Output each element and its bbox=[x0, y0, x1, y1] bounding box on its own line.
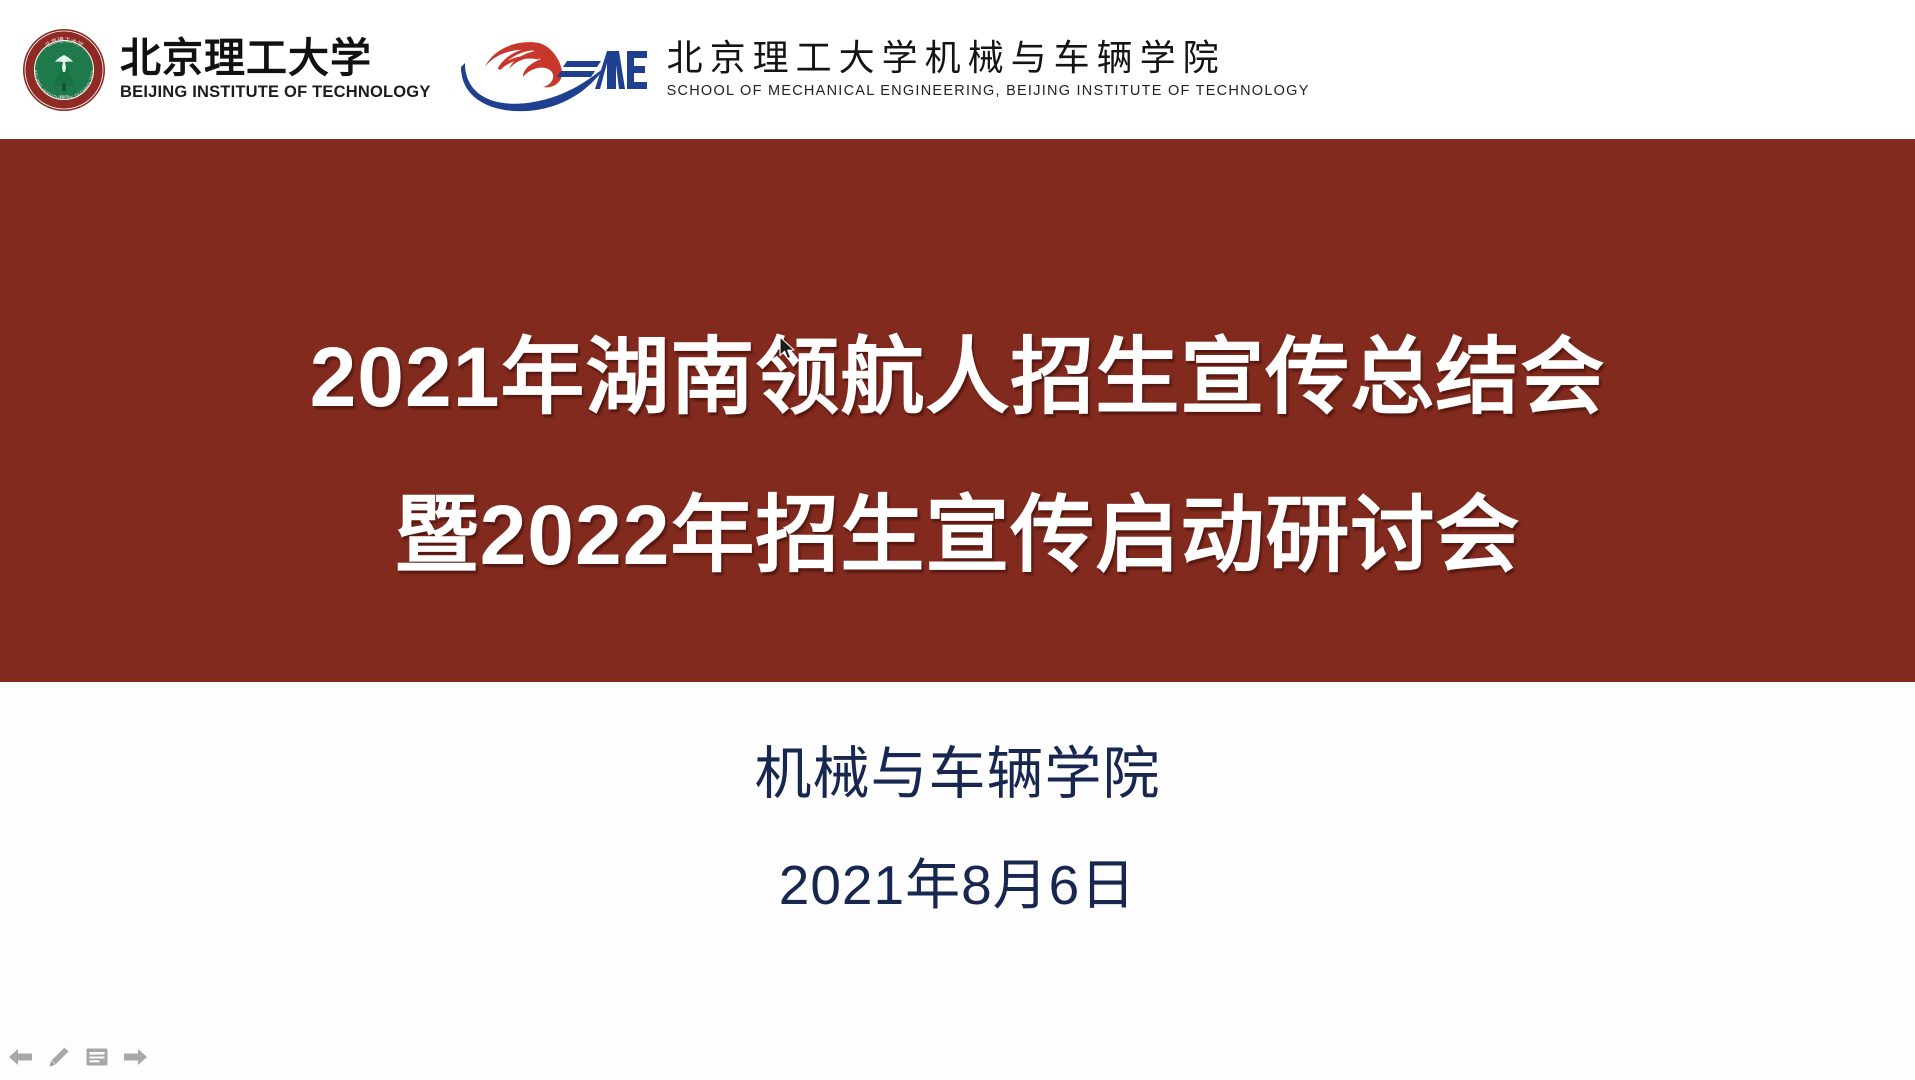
slideshow-toolbar bbox=[0, 1034, 1915, 1080]
bit-name-cn: 北京理工大学 bbox=[120, 36, 431, 80]
arrow-right-icon bbox=[122, 1046, 148, 1068]
bit-name-en: BEIJING INSTITUTE OF TECHNOLOGY bbox=[120, 83, 431, 103]
notes-panel-button[interactable] bbox=[82, 1042, 112, 1072]
notes-icon bbox=[85, 1046, 109, 1068]
pen-annotate-button[interactable] bbox=[44, 1042, 74, 1072]
slide-presenter: 机械与车辆学院 bbox=[0, 745, 1915, 805]
slide-title-line-1: 2021年湖南领航人招生宣传总结会 bbox=[0, 335, 1915, 419]
previous-slide-button[interactable] bbox=[6, 1042, 36, 1072]
slide-subtitle-block: 机械与车辆学院 2021年8月6日 bbox=[0, 745, 1915, 915]
bit-university-wordmark: 北京理工大学 BEIJING INSTITUTE OF TECHNOLOGY bbox=[120, 36, 431, 103]
next-slide-button[interactable] bbox=[120, 1042, 150, 1072]
bit-university-emblem-icon: 北京理工大学 BEIJING INSTITUTE OF TECHNOLOGY 1… bbox=[22, 28, 106, 112]
slide-title-block: 2021年湖南领航人招生宣传总结会 暨2022年招生宣传启动研讨会 bbox=[0, 335, 1915, 577]
arrow-left-icon bbox=[8, 1046, 34, 1068]
sme-school-logo-icon bbox=[455, 27, 651, 113]
sme-school-wordmark: 北京理工大学机械与车辆学院 SCHOOL OF MECHANICAL ENGIN… bbox=[667, 38, 1310, 101]
slide-header-band: 北京理工大学 BEIJING INSTITUTE OF TECHNOLOGY 1… bbox=[0, 0, 1915, 139]
slide-title-band: 2021年湖南领航人招生宣传总结会 暨2022年招生宣传启动研讨会 bbox=[0, 139, 1915, 682]
school-name-en: SCHOOL OF MECHANICAL ENGINEERING, BEIJIN… bbox=[667, 83, 1310, 100]
svg-text:1940: 1940 bbox=[59, 94, 70, 99]
school-name-cn: 北京理工大学机械与车辆学院 bbox=[667, 38, 1310, 78]
pencil-icon bbox=[47, 1045, 71, 1069]
slide-title-line-2: 暨2022年招生宣传启动研讨会 bbox=[0, 493, 1915, 577]
presentation-slide: 北京理工大学 BEIJING INSTITUTE OF TECHNOLOGY 1… bbox=[0, 0, 1915, 1080]
slide-date: 2021年8月6日 bbox=[0, 857, 1915, 915]
